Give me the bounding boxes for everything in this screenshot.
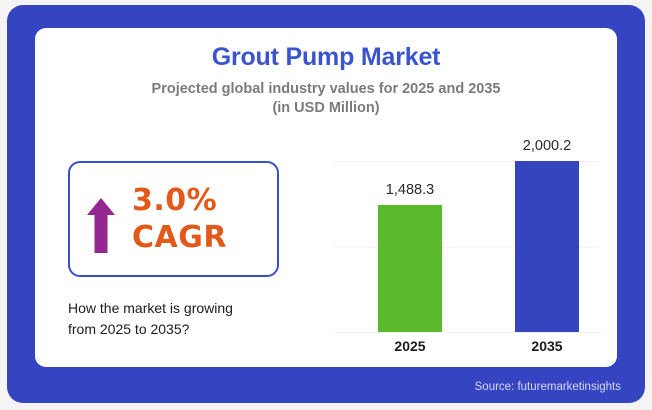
source-credit: Source: futuremarketinsights: [475, 381, 621, 393]
caption-line-1: How the market is growing: [68, 298, 298, 319]
cagr-text-group: 3.0% CAGR: [132, 182, 277, 256]
cagr-box: 3.0% CAGR: [68, 161, 279, 277]
bar-chart: 1,488.3 2,000.2 2025 2035: [333, 136, 601, 358]
arrow-up-icon: [70, 181, 132, 257]
infographic-root: Grout Pump Market Projected global indus…: [0, 0, 652, 410]
page-subtitle: Projected global industry values for 202…: [35, 80, 617, 118]
plot-area: [333, 161, 601, 333]
x-axis-label-2035: 2035: [502, 338, 592, 354]
bar-value-2035: 2,000.2: [502, 138, 592, 154]
growth-caption: How the market is growing from 2025 to 2…: [68, 298, 298, 340]
cagr-label: CAGR: [132, 220, 269, 256]
blue-frame: Grout Pump Market Projected global indus…: [7, 5, 645, 403]
caption-line-2: from 2025 to 2035?: [68, 319, 298, 340]
white-card: Grout Pump Market Projected global indus…: [35, 28, 617, 367]
subtitle-line-1: Projected global industry values for 202…: [35, 80, 617, 99]
x-axis-label-2025: 2025: [365, 338, 455, 354]
bar-2025: [378, 205, 442, 332]
bar-2035: [515, 161, 579, 332]
subtitle-line-2: (in USD Million): [35, 99, 617, 118]
page-title: Grout Pump Market: [35, 43, 617, 72]
cagr-value: 3.0%: [132, 182, 269, 220]
cagr-box-content: 3.0% CAGR: [70, 163, 277, 275]
gridline-bottom: [333, 332, 601, 333]
